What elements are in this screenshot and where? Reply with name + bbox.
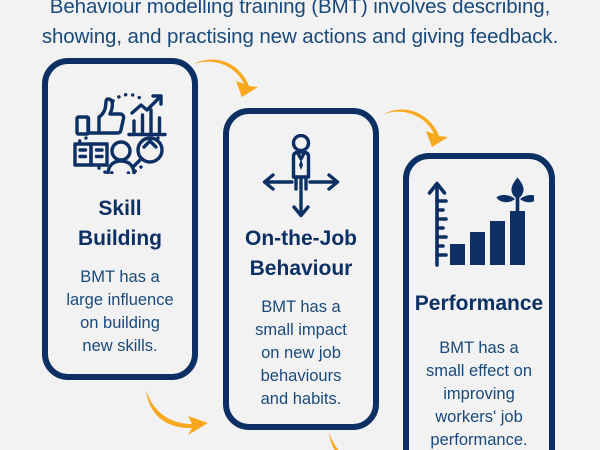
card-title-line-1: On-the-Job [245,227,357,250]
curved-arrow-down-right [192,56,266,106]
curved-arrow-right [142,388,228,444]
card-body-line: large influence [66,291,173,309]
card-body-line: performance. [430,431,527,449]
card-on-the-job-behaviour[interactable]: On-the-Job Behaviour BMT has a small imp… [223,108,379,430]
infographic-canvas: Behaviour modelling training (BMT) invol… [0,0,600,450]
card-body-line: new skills. [82,337,157,355]
on-the-job-behaviour-icon [229,134,373,220]
card-body-on-the-job-behaviour: BMT has a small impact on new job behavi… [229,296,373,411]
card-body-line: BMT has a [261,298,340,316]
card-title-performance: Performance [409,289,549,319]
card-body-line: small effect on [426,362,532,380]
card-body-line: on building [80,314,160,332]
header-line-1: Behaviour modelling training (BMT) invol… [0,0,600,22]
card-title-line-1: Skill [98,197,141,220]
curved-arrow-down-right [382,106,456,156]
card-title-skill-building: Skill Building [48,194,192,254]
page-title: Behaviour modelling training (BMT) invol… [0,0,600,52]
card-body-performance: BMT has a small effect on improving work… [409,337,549,450]
card-skill-building[interactable]: Skill Building BMT has a large influence… [42,58,198,380]
card-performance[interactable]: Performance BMT has a small effect on im… [403,153,555,450]
card-body-line: small impact [255,321,347,339]
curved-arrow-down-right [325,430,411,450]
card-body-line: improving [443,385,515,403]
card-body-skill-building: BMT has a large influence on building ne… [48,266,192,358]
skill-building-icon [48,88,192,174]
card-title-line-2: Behaviour [250,257,353,280]
card-body-line: and habits. [261,390,342,408]
performance-growth-icon [409,177,549,271]
card-body-line: on new job [261,344,341,362]
card-body-line: workers' job [435,408,523,426]
card-body-line: BMT has a [80,268,159,286]
card-title-line-2: Building [78,227,162,250]
card-body-line: behaviours [261,367,342,385]
card-title-on-the-job-behaviour: On-the-Job Behaviour [229,224,373,284]
card-body-line: BMT has a [439,339,518,357]
card-title-line-1: Performance [415,292,543,315]
header-line-2: showing, and practising new actions and … [0,22,600,52]
